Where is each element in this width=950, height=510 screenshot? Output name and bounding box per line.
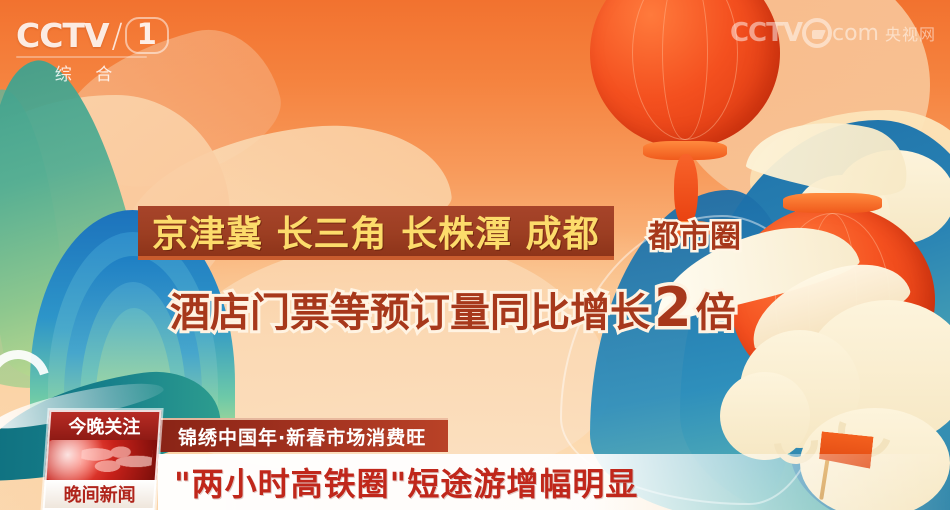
decorative-green-leaf [0, 86, 70, 394]
cctv1-channel-logo: CCTV / 1 综 合 [16, 16, 151, 82]
program-segment-label: 今晚关注 [47, 410, 161, 440]
headline-line2-number: 2 [654, 276, 692, 339]
program-name-text: 晚间新闻 [64, 481, 136, 507]
channel-logo-slash: / [112, 16, 123, 55]
channel-logo-underline [16, 56, 147, 58]
channel-logo-row: CCTV / 1 [16, 16, 151, 55]
lower-third-subtitle-bar: 锦绣中国年·新春市场消费旺 [160, 418, 448, 452]
news-globe-icon [45, 440, 160, 480]
headline-block: 京津冀 长三角 长株潭 成都 都市圈 酒店门票等预订量同比增长 2 倍 [138, 206, 614, 260]
headline-line2-suffix: 倍 [696, 280, 736, 338]
channel-subtitle: 综 合 [16, 60, 151, 85]
cctv-eye-icon [802, 18, 832, 48]
headline-city-banner: 京津冀 长三角 长株潭 成都 [138, 206, 614, 260]
headline-line2-prefix: 酒店门票等预订量同比增长 [170, 280, 650, 338]
lower-third-bar: "两小时高铁圈"短途游增幅明显 锦绣中国年·新春市场消费旺 今晚关注 晚间新闻 [0, 410, 950, 510]
broadcast-screen: CCTV / 1 综 合 CCTV .com 央视网 京津冀 长三角 长株潭 成… [0, 0, 950, 510]
headline-tag: 都市圈 [648, 211, 741, 256]
program-segment-text: 今晚关注 [68, 413, 140, 439]
red-lantern-icon [730, 205, 935, 395]
lantern-body [730, 205, 935, 395]
program-logo-badge: 今晚关注 晚间新闻 [43, 410, 162, 510]
program-name-label: 晚间新闻 [43, 480, 157, 510]
lantern-cap [783, 193, 881, 213]
lower-third-main-title-bar: "两小时高铁圈"短途游增幅明显 [158, 454, 950, 510]
watermark-cctv-text: CCTV [730, 18, 802, 48]
watermark-chinese-text: 央视网 [885, 21, 936, 45]
watermark-com-text: .com [825, 21, 879, 46]
lower-third-main-title: "两小时高铁圈"短途游增幅明显 [174, 459, 638, 505]
headline-city-list: 京津冀 长三角 长株潭 成都 [152, 205, 600, 257]
channel-name: CCTV [16, 19, 109, 52]
headline-second-line: 酒店门票等预订量同比增长 2 倍 [170, 276, 736, 339]
lower-third-subtitle: 锦绣中国年·新春市场消费旺 [178, 423, 426, 450]
cctv-com-watermark: CCTV .com 央视网 [730, 18, 936, 48]
channel-number: 1 [125, 17, 169, 53]
decorative-green-leaf [0, 49, 160, 402]
